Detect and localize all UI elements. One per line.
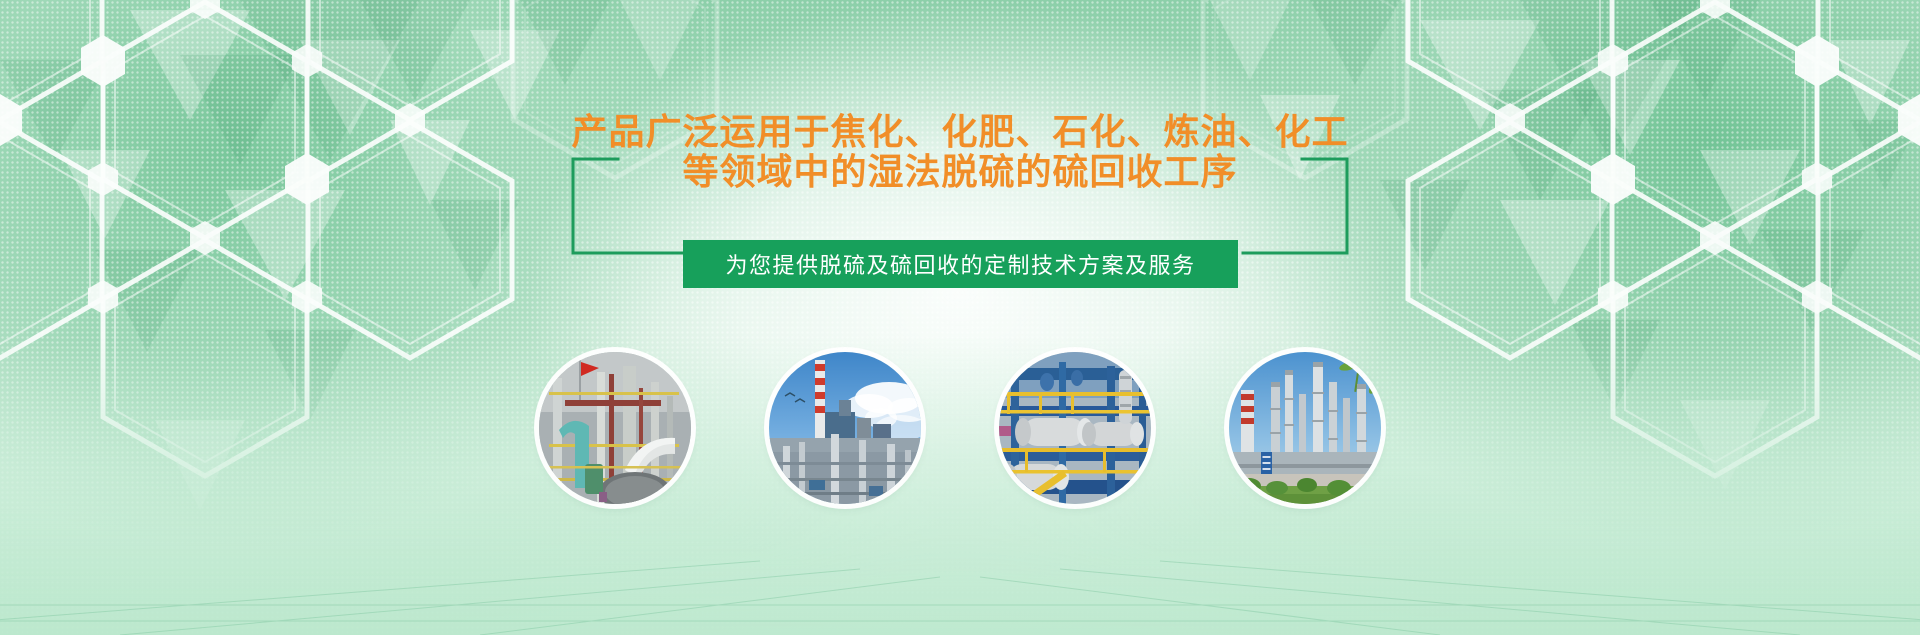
sub-banner-text: 为您提供脱硫及硫回收的定制技术方案及服务 — [725, 248, 1195, 280]
photo-desulfurization-plant-piping[interactable] — [539, 352, 691, 504]
photo-refinery-stack-blue-sky[interactable] — [769, 352, 921, 504]
sub-banner: 为您提供脱硫及硫回收的定制技术方案及服务 — [683, 240, 1238, 288]
hero-banner: 产品广泛运用于焦化、化肥、石化、炼油、化工 等领域中的湿法脱硫的硫回收工序 为您… — [0, 0, 1920, 635]
photo-sulfur-recovery-vessels[interactable] — [999, 352, 1151, 504]
photo-petrochemical-distillation-towers[interactable] — [1229, 352, 1381, 504]
headline-line-2: 等领域中的湿法脱硫的硫回收工序 — [430, 152, 1490, 192]
headline-line-1: 产品广泛运用于焦化、化肥、石化、炼油、化工 — [430, 112, 1490, 152]
headline: 产品广泛运用于焦化、化肥、石化、炼油、化工 等领域中的湿法脱硫的硫回收工序 — [430, 112, 1490, 192]
photo-strip — [0, 352, 1920, 532]
